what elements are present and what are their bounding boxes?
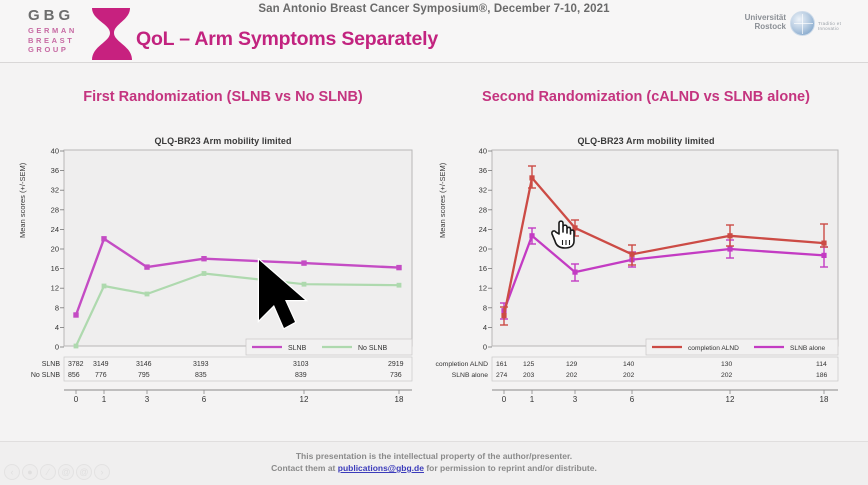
svg-text:203: 203 <box>523 372 535 379</box>
page-title: QoL – Arm Symptoms Separately <box>136 28 438 51</box>
svg-text:839: 839 <box>295 372 307 379</box>
svg-text:completion ALND: completion ALND <box>435 361 488 368</box>
svg-text:20: 20 <box>51 245 59 254</box>
svg-text:795: 795 <box>138 372 150 379</box>
svg-text:856: 856 <box>68 372 80 379</box>
globe-icon <box>790 11 815 36</box>
svg-text:129: 129 <box>566 361 578 368</box>
svg-text:18: 18 <box>395 395 404 404</box>
svg-text:3193: 3193 <box>193 361 209 368</box>
slide-footer: This presentation is the intellectual pr… <box>0 441 868 485</box>
footer-contact-suffix: for permission to reprint and/or distrib… <box>424 463 597 473</box>
university-name-line2: Rostock <box>728 22 786 31</box>
publications-email-link[interactable]: publications@gbg.de <box>338 463 424 473</box>
university-logo: Universität Rostock Traditio et Innovati… <box>728 9 846 39</box>
slide: GBG GERMAN BREAST GROUP San Antonio Brea… <box>0 0 868 485</box>
svg-text:SLNB alone: SLNB alone <box>452 372 488 379</box>
svg-text:0: 0 <box>55 343 59 352</box>
chart-second-randomization: QLQ-BR23 Arm mobility limited Mean score… <box>434 128 858 418</box>
university-name-line1: Universität <box>728 13 786 22</box>
svg-text:18: 18 <box>820 395 829 404</box>
svg-text:SLNB: SLNB <box>42 361 61 368</box>
footer-ip-notice: This presentation is the intellectual pr… <box>0 451 868 461</box>
chart-first-randomization: QLQ-BR23 Arm mobility limited Mean score… <box>14 128 432 418</box>
svg-text:8: 8 <box>55 303 59 312</box>
svg-text:0: 0 <box>502 395 507 404</box>
slide-header: GBG GERMAN BREAST GROUP San Antonio Brea… <box>0 0 868 63</box>
svg-text:3146: 3146 <box>136 361 152 368</box>
gbg-name-line1: GERMAN <box>28 26 77 36</box>
gbg-full-name: GERMAN BREAST GROUP <box>28 26 77 55</box>
plot-area: 40 36 32 28 24 20 16 12 8 4 0 <box>434 128 858 418</box>
cc-forward-icon: › <box>94 464 110 480</box>
chart-legend: SLNB No SLNB <box>246 339 412 355</box>
svg-text:1: 1 <box>102 395 107 404</box>
svg-text:6: 6 <box>630 395 635 404</box>
svg-text:24: 24 <box>479 225 487 234</box>
cc-nd-icon: ∕ <box>40 464 56 480</box>
svg-text:32: 32 <box>479 186 487 195</box>
svg-text:12: 12 <box>51 284 59 293</box>
svg-text:4: 4 <box>55 323 59 332</box>
footer-contact-prefix: Contact them at <box>271 463 338 473</box>
svg-text:274: 274 <box>496 372 508 379</box>
svg-text:161: 161 <box>496 361 508 368</box>
svg-text:24: 24 <box>51 225 59 234</box>
svg-text:No SLNB: No SLNB <box>358 345 388 352</box>
svg-text:125: 125 <box>523 361 535 368</box>
svg-text:0: 0 <box>483 343 487 352</box>
cc-at-icon: @ <box>76 464 92 480</box>
svg-text:40: 40 <box>479 147 487 156</box>
svg-text:6: 6 <box>202 395 207 404</box>
svg-text:835: 835 <box>195 372 207 379</box>
cc-by-icon: ● <box>22 464 38 480</box>
chart-legend: completion ALND SLNB alone <box>646 339 838 355</box>
creative-commons-icon-group: ‹ ● ∕ @ @ › <box>4 464 110 480</box>
svg-text:202: 202 <box>623 372 635 379</box>
cc-share-icon: @ <box>58 464 74 480</box>
svg-text:3: 3 <box>145 395 150 404</box>
svg-text:36: 36 <box>51 166 59 175</box>
svg-text:8: 8 <box>483 303 487 312</box>
svg-text:736: 736 <box>390 372 402 379</box>
svg-text:20: 20 <box>479 245 487 254</box>
svg-text:16: 16 <box>479 264 487 273</box>
svg-text:3149: 3149 <box>93 361 109 368</box>
university-name: Universität Rostock <box>728 13 786 31</box>
svg-text:12: 12 <box>479 284 487 293</box>
panel-heading-first-randomization: First Randomization (SLNB vs No SLNB) <box>16 89 430 105</box>
svg-text:186: 186 <box>816 372 828 379</box>
svg-text:1: 1 <box>530 395 535 404</box>
svg-text:12: 12 <box>726 395 735 404</box>
cc-back-icon: ‹ <box>4 464 20 480</box>
gbg-name-line3: GROUP <box>28 45 77 55</box>
svg-text:16: 16 <box>51 264 59 273</box>
svg-text:3103: 3103 <box>293 361 309 368</box>
gbg-name-line2: BREAST <box>28 36 77 46</box>
svg-text:0: 0 <box>74 395 79 404</box>
svg-text:No SLNB: No SLNB <box>31 372 61 379</box>
svg-text:202: 202 <box>721 372 733 379</box>
svg-text:40: 40 <box>51 147 59 156</box>
svg-text:2919: 2919 <box>388 361 404 368</box>
footer-contact-notice: Contact them at publications@gbg.de for … <box>0 463 868 473</box>
svg-text:140: 140 <box>623 361 635 368</box>
svg-text:114: 114 <box>816 361 827 368</box>
university-tagline: Traditio et Innovatio <box>818 21 846 31</box>
plot-area: 40 36 32 28 24 20 16 12 8 4 0 <box>14 128 432 418</box>
svg-text:28: 28 <box>479 205 487 214</box>
svg-text:776: 776 <box>95 372 107 379</box>
svg-text:36: 36 <box>479 166 487 175</box>
svg-text:130: 130 <box>721 361 733 368</box>
svg-text:3782: 3782 <box>68 361 84 368</box>
svg-text:completion ALND: completion ALND <box>688 345 739 352</box>
panel-heading-second-randomization: Second Randomization (cALND vs SLNB alon… <box>436 89 856 105</box>
svg-text:SLNB: SLNB <box>288 345 307 352</box>
svg-text:202: 202 <box>566 372 578 379</box>
svg-text:4: 4 <box>483 323 487 332</box>
svg-text:32: 32 <box>51 186 59 195</box>
svg-text:12: 12 <box>300 395 309 404</box>
svg-text:28: 28 <box>51 205 59 214</box>
svg-text:3: 3 <box>573 395 578 404</box>
svg-text:SLNB alone: SLNB alone <box>790 345 826 352</box>
